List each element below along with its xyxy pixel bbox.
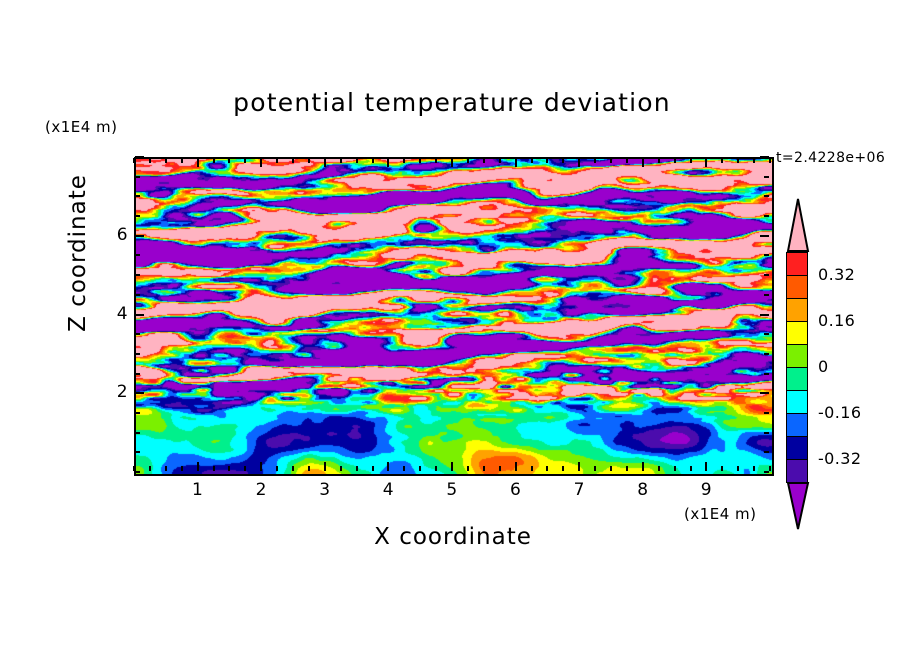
x-tick-label: 7 <box>564 480 594 500</box>
y-axis-tick <box>760 156 769 158</box>
x-axis-tick <box>213 466 215 471</box>
y-axis-tick <box>764 373 769 375</box>
y-tick-label: 6 <box>98 225 128 245</box>
y-axis-tick <box>135 215 140 217</box>
y-axis-tick <box>764 215 769 217</box>
colorbar-band <box>786 367 808 391</box>
x-axis-tick <box>181 466 183 471</box>
x-axis-tick <box>356 466 358 471</box>
colorbar-band <box>786 321 808 345</box>
colorbar-tick-label: 0.32 <box>818 265 855 284</box>
x-axis-tick <box>372 466 374 471</box>
x-axis-tick <box>324 462 326 471</box>
page-title: potential temperature deviation <box>0 88 904 117</box>
x-axis-tick <box>260 462 262 471</box>
x-axis-tick <box>753 466 755 471</box>
colorbar-band <box>786 252 808 276</box>
x-axis-tick <box>690 466 692 471</box>
contour-plot-panel <box>134 157 774 476</box>
x-axis-tick <box>594 158 596 163</box>
x-axis-tick <box>578 158 580 167</box>
colorbar <box>786 198 810 516</box>
x-axis-tick <box>133 158 135 163</box>
x-axis-title: X coordinate <box>233 524 673 550</box>
x-axis-tick <box>387 462 389 471</box>
y-axis-tick <box>135 412 140 414</box>
x-axis-tick <box>228 158 230 163</box>
x-axis-tick <box>403 158 405 163</box>
x-axis-tick <box>356 158 358 163</box>
x-axis-tick <box>594 466 596 471</box>
x-tick-label: 2 <box>246 480 276 500</box>
x-axis-tick <box>213 158 215 163</box>
x-axis-tick <box>260 158 262 167</box>
y-axis-tick <box>764 274 769 276</box>
x-axis-tick <box>705 462 707 471</box>
x-axis-tick <box>642 462 644 471</box>
x-axis-tick <box>372 158 374 163</box>
colorbar-band <box>786 436 808 460</box>
x-tick-label: 1 <box>183 480 213 500</box>
y-axis-tick <box>135 471 140 473</box>
y-axis-tick <box>135 294 140 296</box>
x-axis-tick <box>642 158 644 167</box>
x-axis-tick <box>228 466 230 471</box>
x-axis-tick <box>705 158 707 167</box>
y-axis-tick <box>135 432 140 434</box>
y-axis-tick <box>764 176 769 178</box>
x-axis-tick <box>451 462 453 471</box>
x-axis-tick <box>626 158 628 163</box>
y-axis-tick <box>135 254 140 256</box>
colorbar-band <box>786 298 808 322</box>
contour-field <box>136 159 772 474</box>
x-axis-tick <box>419 158 421 163</box>
x-axis-tick <box>674 466 676 471</box>
x-axis-tick <box>753 158 755 163</box>
y-axis-tick <box>764 353 769 355</box>
y-axis-tick <box>135 392 144 394</box>
x-tick-label: 6 <box>501 480 531 500</box>
x-axis-tick <box>531 466 533 471</box>
x-axis-tick <box>531 158 533 163</box>
y-axis-tick <box>135 156 144 158</box>
x-axis-tick <box>435 158 437 163</box>
x-tick-label: 4 <box>373 480 403 500</box>
x-axis-tick <box>690 158 692 163</box>
x-axis-tick <box>546 158 548 163</box>
x-axis-tick <box>244 158 246 163</box>
colorbar-band <box>786 390 808 414</box>
colorbar-over-arrow <box>786 198 810 252</box>
y-axis-tick <box>135 333 140 335</box>
colorbar-under-arrow <box>786 482 810 530</box>
x-axis-tick <box>515 158 517 167</box>
x-axis-tick <box>721 158 723 163</box>
y-axis-tick <box>135 314 144 316</box>
x-axis-tick <box>483 158 485 163</box>
x-axis-tick <box>308 466 310 471</box>
x-axis-unit-label: (x1E4 m) <box>684 505 757 523</box>
x-axis-tick <box>483 466 485 471</box>
x-axis-tick <box>658 466 660 471</box>
y-axis-tick <box>135 176 140 178</box>
x-axis-tick <box>467 158 469 163</box>
y-axis-tick <box>135 235 144 237</box>
x-axis-tick <box>292 466 294 471</box>
x-axis-tick <box>340 158 342 163</box>
y-axis-tick <box>764 333 769 335</box>
y-axis-tick <box>135 353 140 355</box>
x-axis-tick <box>769 466 771 471</box>
y-axis-tick <box>764 254 769 256</box>
x-tick-label: 3 <box>310 480 340 500</box>
y-axis-title: Z coordinate <box>65 153 91 353</box>
x-axis-tick <box>626 466 628 471</box>
colorbar-tick-label: 0.16 <box>818 311 855 330</box>
x-axis-tick <box>546 466 548 471</box>
x-axis-tick <box>769 158 771 163</box>
x-axis-tick <box>562 158 564 163</box>
x-axis-tick <box>737 158 739 163</box>
x-tick-label: 9 <box>691 480 721 500</box>
x-axis-tick <box>181 158 183 163</box>
x-axis-tick <box>197 158 199 167</box>
y-tick-label: 4 <box>98 304 128 324</box>
x-axis-tick <box>165 466 167 471</box>
x-tick-label: 5 <box>437 480 467 500</box>
y-axis-tick <box>760 314 769 316</box>
x-axis-tick <box>340 466 342 471</box>
x-axis-tick <box>721 466 723 471</box>
time-annotation: t=2.4228e+06 <box>776 150 885 166</box>
colorbar-tick-label: -0.16 <box>818 403 861 422</box>
y-axis-tick <box>764 412 769 414</box>
x-axis-tick <box>276 466 278 471</box>
y-axis-tick <box>760 392 769 394</box>
x-axis-tick <box>610 466 612 471</box>
y-axis-tick <box>764 432 769 434</box>
x-axis-tick <box>610 158 612 163</box>
x-axis-tick <box>292 158 294 163</box>
colorbar-band <box>786 413 808 437</box>
x-axis-tick <box>276 158 278 163</box>
x-tick-label: 8 <box>628 480 658 500</box>
x-axis-tick <box>499 158 501 163</box>
colorbar-band <box>786 275 808 299</box>
x-axis-tick <box>578 462 580 471</box>
x-axis-tick <box>165 158 167 163</box>
x-axis-tick <box>658 158 660 163</box>
x-axis-tick <box>451 158 453 167</box>
x-axis-tick <box>387 158 389 167</box>
x-axis-tick <box>419 466 421 471</box>
x-axis-tick <box>149 466 151 471</box>
y-tick-label: 2 <box>98 382 128 402</box>
x-axis-tick <box>435 466 437 471</box>
colorbar-band <box>786 344 808 368</box>
y-axis-tick <box>764 294 769 296</box>
colorbar-tick-label: -0.32 <box>818 449 861 468</box>
colorbar-band <box>786 459 808 483</box>
y-axis-tick <box>135 373 140 375</box>
y-axis-tick <box>764 471 769 473</box>
y-axis-tick <box>135 195 140 197</box>
x-axis-tick <box>467 466 469 471</box>
y-axis-tick <box>764 195 769 197</box>
x-axis-tick <box>324 158 326 167</box>
y-axis-tick <box>764 451 769 453</box>
x-axis-tick <box>499 466 501 471</box>
y-axis-tick <box>135 274 140 276</box>
y-axis-tick <box>135 451 140 453</box>
x-axis-tick <box>403 466 405 471</box>
x-axis-tick <box>674 158 676 163</box>
x-axis-tick <box>562 466 564 471</box>
y-axis-tick <box>760 235 769 237</box>
x-axis-tick <box>737 466 739 471</box>
x-axis-tick <box>197 462 199 471</box>
x-axis-tick <box>515 462 517 471</box>
x-axis-tick <box>244 466 246 471</box>
colorbar-tick-label: 0 <box>818 357 829 376</box>
x-axis-tick <box>149 158 151 163</box>
y-axis-unit-label: (x1E4 m) <box>45 118 118 136</box>
x-axis-tick <box>308 158 310 163</box>
